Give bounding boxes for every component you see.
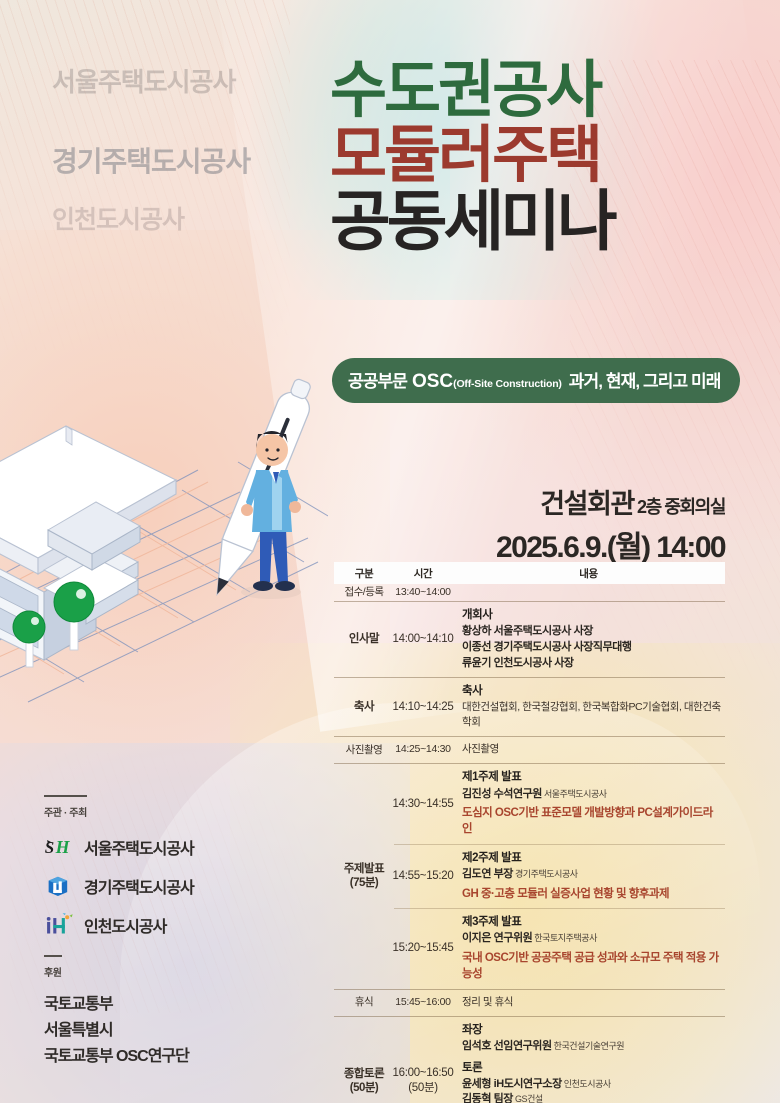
sponsor-item: 국토교통부 — [44, 992, 294, 1018]
session-heading: 제2주제 발표 — [462, 850, 721, 866]
person-name: 황상하 서울주택도시공사 사장 — [462, 625, 593, 637]
session-time: 14:30~14:55 — [394, 764, 452, 844]
isometric-building-illustration — [0, 330, 328, 790]
session-topic: 국내 OSC기반 공공주택 공급 성과와 소규모 주택 적용 가능성 — [462, 950, 721, 983]
person-org: 한국건설기술연구원 — [554, 1041, 624, 1051]
content-heading: 좌장 — [462, 1022, 721, 1038]
table-header-division: 구분 — [334, 566, 394, 581]
session-time: 15:20~15:45 — [394, 909, 452, 989]
sponsor-item: 서울특별시 — [44, 1018, 294, 1044]
row-time: 14:10~14:25 — [394, 678, 452, 736]
person-name: 김동혁 팀장 — [462, 1093, 513, 1103]
svg-text:S: S — [45, 838, 54, 857]
row-division: 접수/등록 — [334, 584, 394, 601]
session-heading: 제3주제 발표 — [462, 914, 721, 930]
table-row: 축사 14:10~14:25 축사 대한건설협회, 한국철강협회, 한국복합화P… — [334, 677, 725, 736]
gh-logo-icon — [44, 873, 78, 899]
row-content — [452, 584, 725, 601]
session-row: 14:30~14:55 제1주제 발표 김진성 수석연구원서울주택도시공사 도심… — [394, 764, 725, 844]
host-item-ih: 인천도시공사 — [44, 912, 284, 938]
venue-floor: 2층 중회의실 — [637, 497, 725, 517]
person-name: 임석호 선임연구위원 — [462, 1040, 552, 1052]
speaker-name: 이지은 연구위원 — [462, 932, 532, 944]
session-heading: 제1주제 발표 — [462, 769, 721, 785]
sponsor-list: 국토교통부 서울특별시 국토교통부 OSC연구단 — [44, 992, 294, 1070]
row-division-sub: (75분) — [350, 876, 379, 890]
row-division: 인사말 — [334, 602, 394, 677]
table-row: 종합토론 (50분) 16:00~16:50 (50분) 좌장 임석호 선임연구… — [334, 1016, 725, 1103]
sponsor-item: 국토교통부 OSC연구단 — [44, 1044, 294, 1070]
host-item-sh: S H 서울주택도시공사 — [44, 834, 284, 860]
person-name: 류윤기 인천도시공사 사장 — [462, 657, 574, 669]
subtitle-tail: 과거, 현재, 그리고 미래 — [569, 367, 721, 392]
table-header-time: 시간 — [394, 566, 452, 581]
host-label: 인천도시공사 — [84, 913, 166, 937]
person-org: 인천도시공사 — [564, 1079, 611, 1089]
row-division-label: 주제발표 — [344, 862, 384, 876]
person-line: 이종선 경기주택도시공사 사장직무대행 — [462, 640, 721, 656]
subtitle-prefix: 공공부문 — [348, 367, 407, 392]
row-division: 휴식 — [334, 990, 394, 1016]
row-division: 축사 — [334, 678, 394, 736]
watermark-incheon: 인천도시공사 — [52, 200, 184, 236]
row-division: 종합토론 (50분) — [334, 1017, 394, 1103]
table-body: 접수/등록 13:40~14:00 인사말 14:00~14:10 개회사 황상… — [334, 584, 725, 1103]
watermark-gyeonggi: 경기주택도시공사 — [52, 140, 250, 180]
speaker-org: 경기주택도시공사 — [515, 869, 578, 879]
row-content: 축사 대한건설협회, 한국철강협회, 한국복합화PC기술협회, 대한건축학회 — [452, 678, 725, 736]
row-content: 개회사 황상하 서울주택도시공사 사장 이종선 경기주택도시공사 사장직무대행 … — [452, 602, 725, 677]
session-topic: GH 중·고층 모듈러 실증사업 현황 및 향후과제 — [462, 886, 721, 902]
hosts-section: 주관 · 주최 S H 서울주택도시공사 경기주택도시공사 — [44, 795, 284, 938]
session-topic: 도심지 OSC기반 표준모델 개발방향과 PC설계가이드라인 — [462, 805, 721, 838]
person-line: 윤세형 iH도시연구소장인천도시공사 — [462, 1077, 721, 1093]
session-content: 제3주제 발표 이지은 연구위원한국토지주택공사 국내 OSC기반 공공주택 공… — [452, 909, 725, 989]
ih-logo-icon — [44, 912, 78, 938]
row-division: 사진촬영 — [334, 737, 394, 763]
person-illustration — [241, 431, 301, 599]
table-header-row: 구분 시간 내용 — [334, 562, 725, 584]
table-row: 휴식 15:45~16:00 정리 및 휴식 — [334, 989, 725, 1016]
table-row: 인사말 14:00~14:10 개회사 황상하 서울주택도시공사 사장 이종선 … — [334, 601, 725, 677]
speaker-name: 김진성 수석연구원 — [462, 788, 542, 800]
content-heading: 토론 — [462, 1060, 721, 1076]
table-row: 접수/등록 13:40~14:00 — [334, 584, 725, 601]
row-time: 13:40~14:00 — [394, 584, 452, 601]
row-time: 16:00~16:50 (50분) — [394, 1017, 452, 1103]
venue-hall: 건설회관 — [540, 489, 634, 519]
sponsors-section: 후원 국토교통부 서울특별시 국토교통부 OSC연구단 — [44, 955, 294, 1070]
row-time: 14:25~14:30 — [394, 737, 452, 763]
svg-text:H: H — [55, 837, 71, 857]
session-content: 제2주제 발표 김도연 부장경기주택도시공사 GH 중·고층 모듈러 실증사업 … — [452, 845, 725, 908]
speaker-name: 김도연 부장 — [462, 868, 513, 880]
row-content: 사진촬영 — [452, 737, 725, 763]
subtitle-osc-expansion: (Off-Site Construction) — [453, 378, 562, 390]
headline-block: 수도권공사 모듈러주택 공동세미나 — [330, 62, 750, 252]
person-line: 임석호 선임연구위원한국건설기술연구원 — [462, 1039, 721, 1055]
session-stack: 14:30~14:55 제1주제 발표 김진성 수석연구원서울주택도시공사 도심… — [394, 764, 725, 988]
watermark-seoul: 서울주택도시공사 — [52, 62, 235, 99]
row-content: 정리 및 휴식 — [452, 990, 725, 1016]
person-line: 황상하 서울주택도시공사 사장 — [462, 624, 721, 640]
session-row: 15:20~15:45 제3주제 발표 이지은 연구위원한국토지주택공사 국내 … — [394, 908, 725, 989]
row-time-sub: (50분) — [408, 1081, 438, 1096]
content-heading: 축사 — [462, 683, 721, 699]
subtitle-badge: 공공부문 OSC (Off-Site Construction) 과거, 현재,… — [332, 358, 740, 403]
host-label: 경기주택도시공사 — [84, 874, 194, 898]
headline-line-2: 모듈러주택 — [330, 127, 750, 186]
row-division-sub: (50분) — [350, 1081, 379, 1095]
organization-list: 대한건설협회, 한국철강협회, 한국복합화PC기술협회, 대한건축학회 — [462, 700, 721, 730]
poster-canvas: 서울주택도시공사 경기주택도시공사 인천도시공사 — [0, 0, 780, 1103]
session-time: 14:55~15:20 — [394, 845, 452, 908]
hosts-kicker: 주관 · 주최 — [44, 795, 87, 819]
sh-logo-icon: S H — [44, 834, 78, 860]
person-line: 김동혁 팀장GS건설 — [462, 1092, 721, 1103]
person-name: 윤세형 iH도시연구소장 — [462, 1078, 562, 1090]
row-content: 좌장 임석호 선임연구위원한국건설기술연구원 토론 윤세형 iH도시연구소장인천… — [452, 1017, 725, 1103]
venue-line: 건설회관2층 중회의실 — [540, 482, 725, 521]
speaker-org: 서울주택도시공사 — [544, 789, 607, 799]
row-division-label: 종합토론 — [344, 1067, 384, 1081]
row-time: 15:45~16:00 — [394, 990, 452, 1016]
host-item-gh: 경기주택도시공사 — [44, 873, 284, 899]
sponsors-kicker: 후원 — [44, 955, 62, 979]
person-name: 이종선 경기주택도시공사 사장직무대행 — [462, 641, 632, 653]
schedule-table: 구분 시간 내용 접수/등록 13:40~14:00 인사말 14:00~14:… — [334, 562, 725, 1103]
subtitle-osc: OSC — [412, 371, 453, 393]
table-header-content: 내용 — [452, 566, 725, 581]
headline-line-3: 공동세미나 — [330, 190, 750, 253]
speaker-org: 한국토지주택공사 — [534, 933, 597, 943]
row-time-main: 16:00~16:50 — [393, 1066, 454, 1081]
session-content: 제1주제 발표 김진성 수석연구원서울주택도시공사 도심지 OSC기반 표준모델… — [452, 764, 725, 844]
headline-line-1: 수도권공사 — [330, 62, 750, 121]
row-division: 주제발표 (75분) — [334, 764, 394, 988]
table-row: 사진촬영 14:25~14:30 사진촬영 — [334, 736, 725, 763]
table-row: 주제발표 (75분) 14:30~14:55 제1주제 발표 김진성 수석연구원… — [334, 763, 725, 988]
event-date: 2025.6.9.(월) 14:00 — [496, 522, 725, 566]
session-row: 14:55~15:20 제2주제 발표 김도연 부장경기주택도시공사 GH 중·… — [394, 844, 725, 908]
person-org: GS건설 — [515, 1094, 543, 1103]
row-time: 14:00~14:10 — [394, 602, 452, 677]
person-line: 류윤기 인천도시공사 사장 — [462, 656, 721, 672]
host-label: 서울주택도시공사 — [84, 835, 194, 859]
content-heading: 개회사 — [462, 607, 721, 623]
